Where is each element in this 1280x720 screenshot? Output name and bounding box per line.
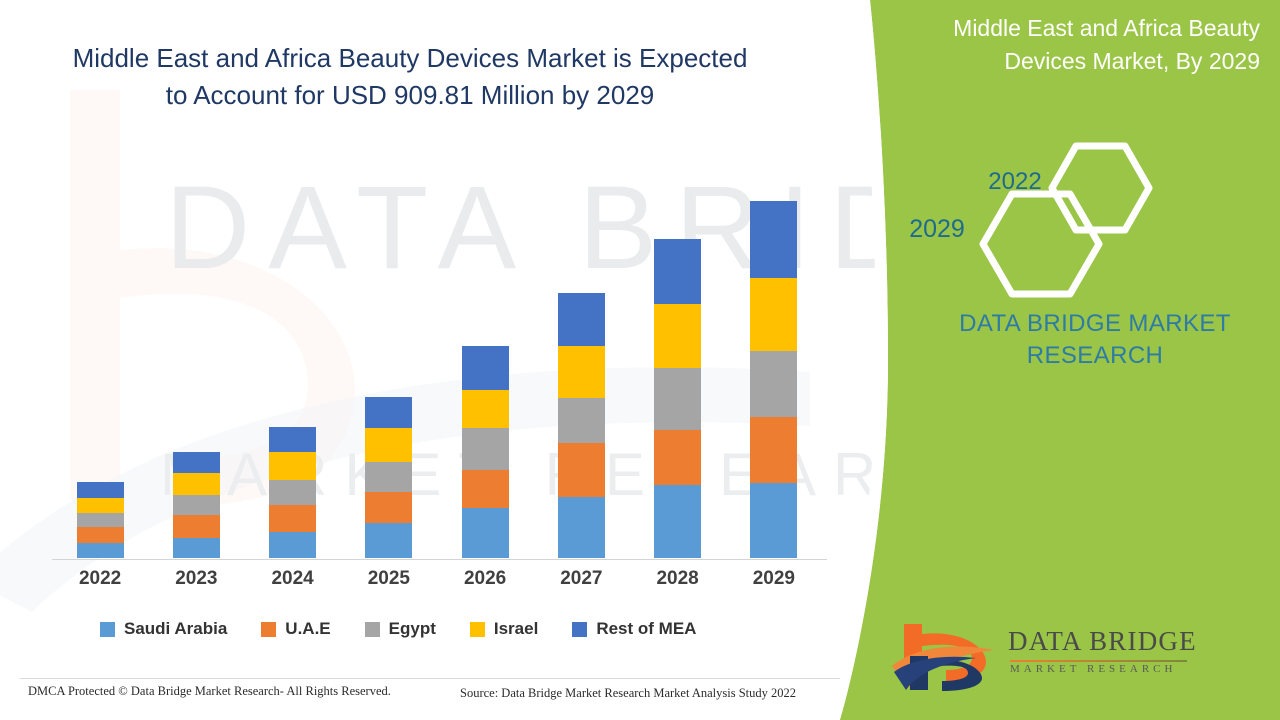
bar-segment	[269, 427, 316, 452]
bar-segment	[77, 513, 124, 527]
bar-segment	[654, 239, 701, 304]
bar-segment	[173, 495, 220, 515]
brand-name: DATA BRIDGE MARKET RESEARCH	[930, 308, 1260, 373]
legend-label: Rest of MEA	[596, 619, 696, 639]
bar-segment	[654, 368, 701, 431]
bar-segment	[558, 497, 605, 558]
bar-segment	[77, 543, 124, 558]
bar-segment	[750, 417, 797, 483]
infographic-root: DATA BRIDGE MARKET RESEARCH Middle East …	[0, 0, 1280, 720]
legend-item: Israel	[470, 619, 538, 639]
bar-stack	[269, 427, 316, 558]
x-tick-label: 2022	[55, 568, 145, 590]
x-tick-label: 2025	[344, 568, 434, 590]
bar-segment	[365, 397, 412, 428]
x-tick-label: 2026	[440, 568, 530, 590]
legend-label: U.A.E	[285, 619, 330, 639]
legend-item: Saudi Arabia	[100, 619, 227, 639]
panel-title: Middle East and Africa Beauty Devices Ma…	[912, 12, 1260, 77]
legend-label: Egypt	[389, 619, 436, 639]
hexagon-large-icon	[983, 194, 1099, 294]
bar-stack	[365, 397, 412, 558]
bar-segment	[654, 304, 701, 368]
hexagon-group-icon	[970, 138, 1220, 303]
hexagon-small-label: 2022	[955, 168, 1075, 196]
footer-divider	[20, 678, 860, 679]
brand-name-line2: RESEARCH	[930, 340, 1260, 372]
x-tick-label: 2023	[151, 568, 241, 590]
bar-segment	[750, 351, 797, 418]
chart-legend: Saudi ArabiaU.A.EEgyptIsraelRest of MEA	[100, 616, 800, 642]
bar-stack	[558, 293, 605, 558]
bar-segment	[750, 483, 797, 558]
bar-segment	[77, 498, 124, 513]
x-tick-label: 2029	[729, 568, 819, 590]
footer-copyright: DMCA Protected © Data Bridge Market Rese…	[28, 684, 391, 699]
logo-name: DATA BRIDGE	[1008, 626, 1197, 657]
bar-segment	[558, 293, 605, 346]
legend-swatch-icon	[470, 622, 485, 637]
x-tick-label: 2028	[633, 568, 723, 590]
legend-swatch-icon	[261, 622, 276, 637]
legend-swatch-icon	[365, 622, 380, 637]
bar-segment	[365, 492, 412, 523]
brand-name-line1: DATA BRIDGE MARKET	[930, 308, 1260, 340]
bar-segment	[558, 398, 605, 443]
bar-segment	[750, 278, 797, 351]
legend-swatch-icon	[572, 622, 587, 637]
bar-stack	[77, 482, 124, 558]
data-bridge-b-icon	[890, 620, 1000, 692]
legend-label: Saudi Arabia	[124, 619, 227, 639]
bar-segment	[462, 470, 509, 508]
bar-segment	[269, 480, 316, 505]
left-panel: DATA BRIDGE MARKET RESEARCH Middle East …	[0, 0, 880, 720]
bar-segment	[365, 462, 412, 492]
bar-segment	[269, 505, 316, 532]
bar-segment	[654, 430, 701, 485]
bar-segment	[77, 527, 124, 543]
bar-segment	[77, 482, 124, 498]
legend-label: Israel	[494, 619, 538, 639]
logo-divider	[1010, 660, 1187, 662]
logo-tagline: MARKET RESEARCH	[1010, 663, 1176, 675]
bar-stack	[654, 239, 701, 558]
bar-segment	[462, 390, 509, 428]
legend-item: Egypt	[365, 619, 436, 639]
hexagon-large-label: 2029	[872, 215, 1002, 244]
bar-segment	[269, 452, 316, 480]
page-title: Middle East and Africa Beauty Devices Ma…	[60, 40, 760, 114]
green-panel: Middle East and Africa Beauty Devices Ma…	[840, 0, 1280, 720]
bar-segment	[462, 346, 509, 391]
stacked-bar-chart	[42, 160, 832, 560]
bar-segment	[173, 538, 220, 558]
bar-segment	[173, 515, 220, 538]
chart-plot-area	[52, 160, 822, 559]
bar-segment	[173, 473, 220, 495]
chart-x-tick-labels: 20222023202420252026202720282029	[42, 568, 832, 596]
bar-segment	[365, 428, 412, 462]
x-tick-label: 2024	[248, 568, 338, 590]
bar-segment	[750, 201, 797, 278]
bar-segment	[462, 428, 509, 470]
bar-segment	[558, 346, 605, 399]
legend-item: U.A.E	[261, 619, 330, 639]
x-tick-label: 2027	[536, 568, 626, 590]
bar-stack	[750, 201, 797, 558]
bar-segment	[558, 443, 605, 497]
bar-segment	[654, 485, 701, 558]
bar-segment	[462, 508, 509, 558]
footer-source: Source: Data Bridge Market Research Mark…	[460, 686, 796, 701]
company-logo: DATA BRIDGE MARKET RESEARCH	[890, 620, 1250, 692]
bar-segment	[269, 532, 316, 558]
bar-stack	[462, 346, 509, 558]
bar-segment	[365, 523, 412, 558]
legend-swatch-icon	[100, 622, 115, 637]
bar-segment	[173, 452, 220, 473]
legend-item: Rest of MEA	[572, 619, 696, 639]
bar-stack	[173, 452, 220, 558]
chart-x-axis	[52, 559, 827, 560]
